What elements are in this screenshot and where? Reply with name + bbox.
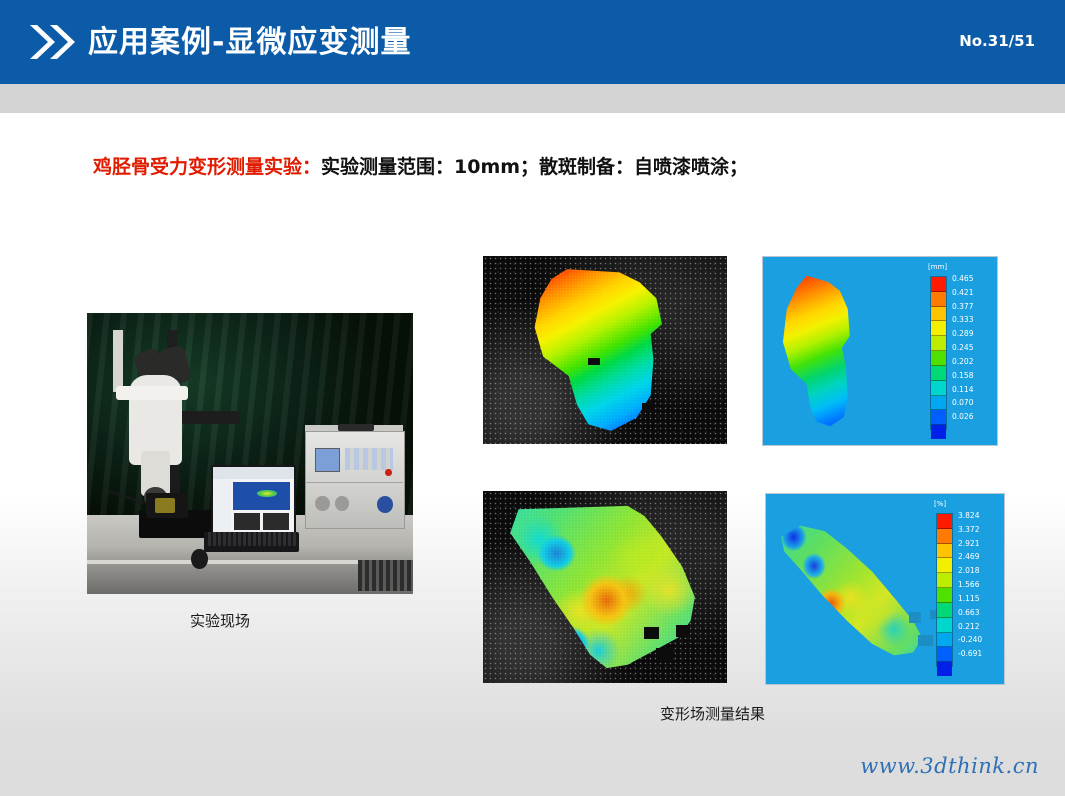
- footer-website-url[interactable]: www.3dthink.cn: [860, 754, 1039, 778]
- colorbar-segment: [931, 410, 946, 425]
- photo-laptop-toolbar: [213, 467, 295, 479]
- strain-colorbar-unit: [%]: [934, 500, 946, 508]
- colorbar-segment: [937, 514, 952, 529]
- colorbar-segment: [937, 618, 952, 633]
- colorbar-segment: [931, 381, 946, 396]
- photo-specimen-clamp: [155, 498, 175, 512]
- dic-strain-hole-2: [676, 625, 691, 637]
- photo-laptop-camera-view-2: [263, 513, 289, 531]
- colorbar-tick-label: 1.566: [958, 578, 982, 592]
- displacement-colorbar-unit: [mm]: [928, 263, 947, 271]
- photo-laptop-camera-view-1: [234, 513, 260, 531]
- colorbar-segment: [937, 647, 952, 662]
- colorbar-tick-label: 0.202: [952, 355, 973, 369]
- subtitle-detail: 实验测量范围：10mm；散斑制备：自喷漆喷涂；: [321, 156, 748, 178]
- colorbar-segment: [937, 544, 952, 559]
- photo-stand-arm: [175, 411, 240, 424]
- colorbar-tick-label: -0.691: [958, 647, 982, 661]
- page-number: No.31/51: [959, 32, 1035, 50]
- dic-strain-hole-1: [644, 627, 659, 639]
- render-strain-hole-3: [918, 635, 932, 646]
- colorbar-tick-label: 0.158: [952, 369, 973, 383]
- photo-laptop-screen: [211, 465, 297, 536]
- slide-header: 应用案例-显微应变测量 No.31/51: [0, 0, 1065, 84]
- render-strain-hole-1: [909, 612, 921, 623]
- colorbar-tick-label: -0.240: [958, 633, 982, 647]
- colorbar-tick-label: 2.469: [958, 550, 982, 564]
- colorbar-tick-label: 0.333: [952, 313, 973, 327]
- colorbar-segment: [937, 558, 952, 573]
- colorbar-segment: [937, 633, 952, 648]
- colorbar-segment: [931, 292, 946, 307]
- colorbar-tick-label: 0.663: [958, 606, 982, 620]
- colorbar-segment: [931, 336, 946, 351]
- photo-laptop-sidebar: [213, 479, 231, 534]
- result-caption: 变形场测量结果: [660, 703, 765, 724]
- colorbar-tick-label: 3.824: [958, 509, 982, 523]
- photo-laptop-plot: [233, 482, 290, 510]
- dic-hole-2: [642, 403, 655, 410]
- colorbar-tick-label: 2.018: [958, 564, 982, 578]
- strain-colorbar-legend: [%] 3.8243.3722.9212.4692.0181.5661.1150…: [934, 500, 1000, 678]
- colorbar-segment: [937, 573, 952, 588]
- dic-strain-hole-3: [656, 648, 673, 660]
- colorbar-tick-label: 3.372: [958, 523, 982, 537]
- lab-setup-photo: [87, 313, 413, 594]
- colorbar-segment: [931, 396, 946, 411]
- colorbar-segment: [931, 351, 946, 366]
- colorbar-segment: [937, 603, 952, 618]
- colorbar-tick-label: 0.114: [952, 383, 973, 397]
- colorbar-segment: [937, 588, 952, 603]
- colorbar-segment: [937, 662, 952, 676]
- photo-laptop-contour: [257, 490, 276, 497]
- render-strain-panel: [%] 3.8243.3722.9212.4692.0181.5661.1150…: [765, 493, 1005, 685]
- photo-controller-power-led: [385, 469, 392, 476]
- render-displacement-panel: [mm] 0.4650.4210.3770.3330.2890.2450.202…: [762, 256, 998, 446]
- colorbar-tick-label: 0.245: [952, 341, 973, 355]
- photo-controller-knob-1: [315, 496, 330, 511]
- colorbar-tick-label: 0.377: [952, 300, 973, 314]
- photo-light-left-icon: [113, 330, 123, 392]
- colorbar-segment: [931, 425, 946, 439]
- colorbar-segment: [931, 277, 946, 292]
- colorbar-tick-label: 0.421: [952, 286, 973, 300]
- displacement-colorbar-legend: [mm] 0.4650.4210.3770.3330.2890.2450.202…: [928, 263, 994, 438]
- subtitle-line: 鸡胫骨受力变形测量实验：实验测量范围：10mm；散斑制备：自喷漆喷涂；: [93, 152, 748, 179]
- photo-mouse: [191, 549, 207, 569]
- strain-colorbar-ticks: 3.8243.3722.9212.4692.0181.5661.1150.663…: [958, 509, 982, 661]
- colorbar-tick-label: 0.026: [952, 410, 973, 424]
- displacement-colorbar-gradient: [930, 276, 947, 430]
- photo-controller-unit: [305, 431, 405, 529]
- colorbar-segment: [931, 321, 946, 336]
- colorbar-tick-label: 1.115: [958, 592, 982, 606]
- double-chevron-right-icon: [26, 22, 78, 62]
- photo-controller-display: [315, 448, 340, 472]
- slide-root: 应用案例-显微应变测量 No.31/51 鸡胫骨受力变形测量实验：实验测量范围：…: [0, 0, 1065, 796]
- colorbar-segment: [937, 529, 952, 544]
- dic-strain-image: [483, 491, 727, 683]
- photo-controller-handle: [338, 424, 374, 431]
- subtitle-highlight: 鸡胫骨受力变形测量实验：: [93, 156, 321, 178]
- photo-controller-buttons: [345, 448, 394, 470]
- photo-bench-grate: [358, 560, 413, 591]
- colorbar-tick-label: 0.070: [952, 396, 973, 410]
- strain-colorbar-gradient: [936, 513, 953, 667]
- lab-photo-caption: 实验现场: [190, 610, 250, 631]
- photo-controller-divider: [305, 482, 403, 483]
- colorbar-tick-label: 2.921: [958, 537, 982, 551]
- header-grey-band: [0, 84, 1065, 113]
- colorbar-tick-label: 0.289: [952, 327, 973, 341]
- dic-hole-1: [588, 358, 600, 366]
- page-title: 应用案例-显微应变测量: [88, 17, 411, 61]
- photo-controller-knob-3: [377, 496, 393, 513]
- displacement-colorbar-ticks: 0.4650.4210.3770.3330.2890.2450.2020.158…: [952, 272, 973, 424]
- colorbar-tick-label: 0.465: [952, 272, 973, 286]
- photo-laptop-keyboard: [208, 532, 296, 546]
- colorbar-segment: [931, 366, 946, 381]
- colorbar-tick-label: 0.212: [958, 620, 982, 634]
- photo-focus-ring: [116, 386, 188, 400]
- dic-displacement-image: [483, 256, 727, 444]
- colorbar-segment: [931, 307, 946, 322]
